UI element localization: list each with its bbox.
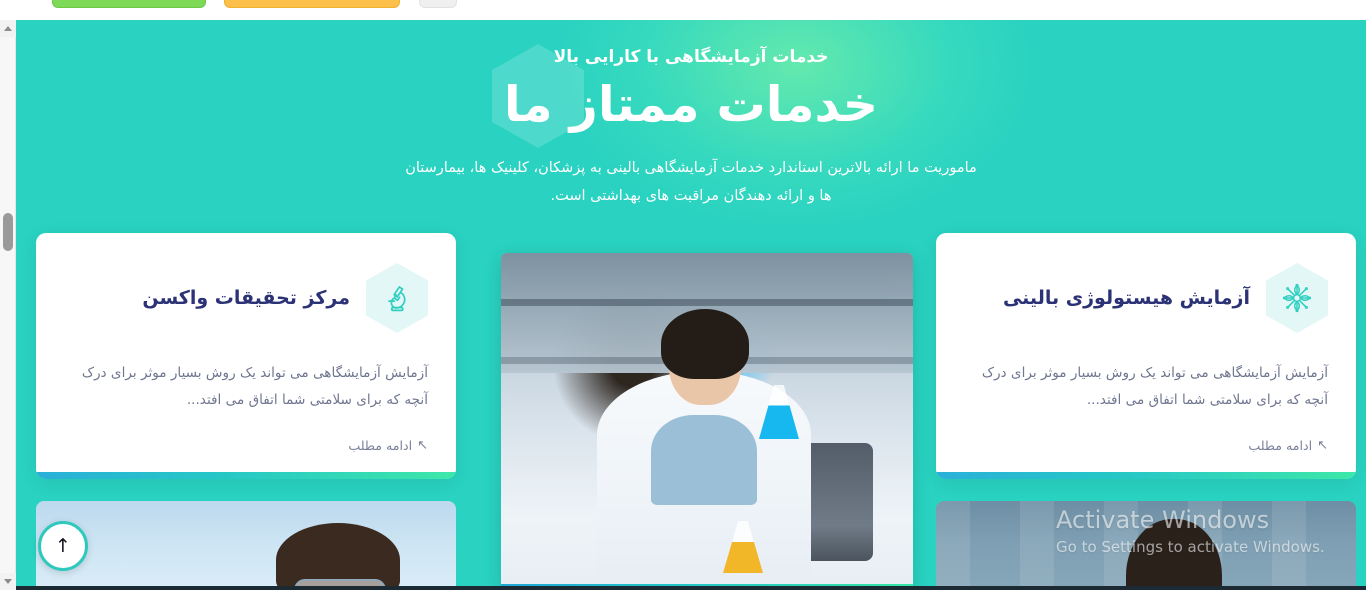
- hair: [661, 309, 749, 379]
- watermark-title: Activate Windows: [1056, 505, 1356, 535]
- scrollbar-thumb[interactable]: [3, 213, 13, 251]
- orange-button[interactable]: [224, 0, 400, 8]
- card-accent-bar: [36, 472, 456, 479]
- read-more-label: ادامه مطلب: [348, 438, 412, 453]
- hero-subtitle: ماموریت ما ارائه بالاترین استاندارد خدما…: [401, 154, 981, 211]
- shirt: [651, 415, 757, 505]
- triangle-up-icon: [4, 26, 12, 31]
- back-to-top-button[interactable]: ↑: [38, 521, 88, 571]
- green-button[interactable]: [52, 0, 206, 8]
- service-card-histology[interactable]: آزمایش هیستولوژی بالینی آزمایش آزمایشگاه…: [936, 233, 1356, 479]
- watermark-subtitle: Go to Settings to activate Windows.: [1056, 537, 1356, 558]
- windows-activation-watermark: Activate Windows Go to Settings to activ…: [1056, 505, 1356, 558]
- scrollbar-up-arrow[interactable]: [0, 20, 16, 37]
- hero-eyebrow: خدمات آزمایشگاهی با کارایی بالا: [16, 47, 1366, 67]
- page-title: خدمات ممتاز ما: [16, 76, 1366, 134]
- card-description: آزمایش آزمایشگاهی می تواند یک روش بسیار …: [64, 360, 428, 414]
- cell-snowflake-icon: [1266, 263, 1328, 333]
- bottom-card-left-photo[interactable]: [36, 501, 456, 590]
- card-body: مرکز تحقیقات واکسن آزمایش آزمایشگاهی می …: [36, 233, 456, 479]
- microscope-icon: [366, 263, 428, 333]
- window-bottom-edge: [0, 586, 1366, 590]
- read-more-label: ادامه مطلب: [1248, 438, 1312, 453]
- card-accent-bar: [936, 472, 1356, 479]
- triangle-down-icon: [4, 579, 12, 584]
- card-title: آزمایش هیستولوژی بالینی: [964, 287, 1250, 309]
- arrow-up-left-icon: ↖: [1317, 439, 1328, 452]
- photo-background: [501, 253, 913, 590]
- scientist-flask-photo[interactable]: [501, 253, 913, 590]
- card-header: آزمایش هیستولوژی بالینی: [964, 263, 1328, 333]
- arrow-up-left-icon: ↖: [417, 439, 428, 452]
- hero: خدمات آزمایشگاهی با کارایی بالا خدمات مم…: [16, 20, 1366, 210]
- card-description: آزمایش آزمایشگاهی می تواند یک روش بسیار …: [964, 360, 1328, 414]
- arrow-up-icon: ↑: [55, 537, 71, 556]
- service-card-vaccine-research[interactable]: مرکز تحقیقات واکسن آزمایش آزمایشگاهی می …: [36, 233, 456, 479]
- previous-section-strip: [0, 0, 1366, 20]
- scrollbar-down-arrow[interactable]: [0, 573, 16, 590]
- card-body: آزمایش هیستولوژی بالینی آزمایش آزمایشگاه…: [936, 233, 1356, 479]
- vertical-scrollbar[interactable]: [0, 20, 16, 590]
- read-more-link[interactable]: ↖ ادامه مطلب: [64, 438, 428, 453]
- grey-button[interactable]: [419, 0, 457, 8]
- card-header: مرکز تحقیقات واکسن: [64, 263, 428, 333]
- read-more-link[interactable]: ↖ ادامه مطلب: [964, 438, 1328, 453]
- card-title: مرکز تحقیقات واکسن: [64, 287, 350, 309]
